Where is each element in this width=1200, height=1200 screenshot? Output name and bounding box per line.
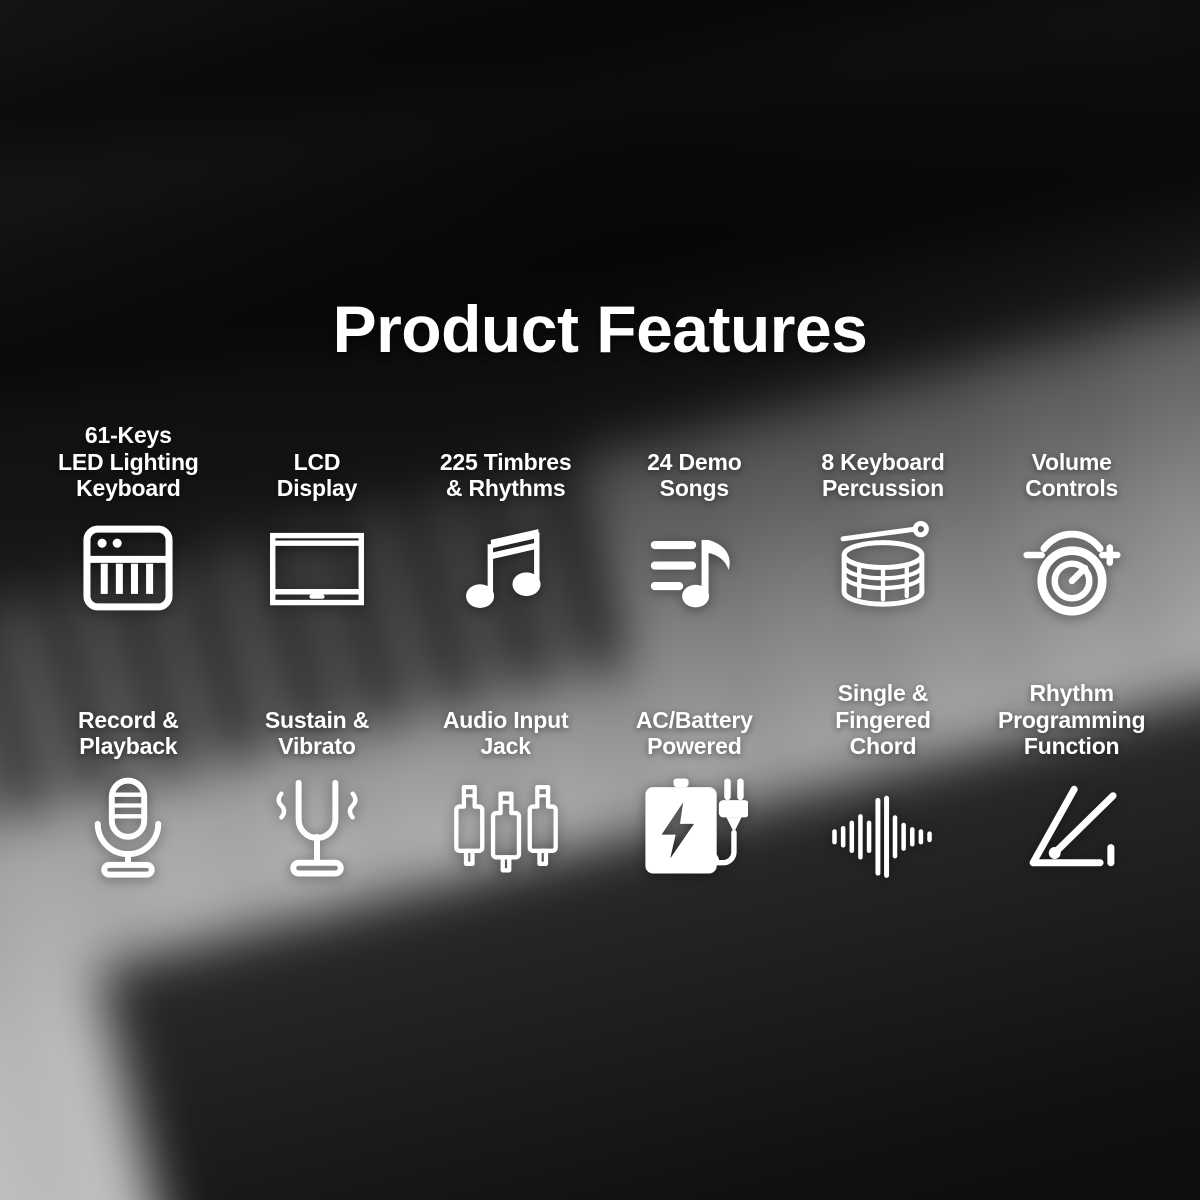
lcd-display-icon <box>263 514 371 622</box>
feature-label: LCD Display <box>277 420 357 502</box>
battery-plug-icon <box>640 772 748 880</box>
tuning-fork-icon <box>263 772 371 880</box>
feature-label: Sustain & Vibrato <box>265 678 369 760</box>
feature-61-keys-led-lighting-keyboard: 61-Keys LED Lighting Keyboard <box>34 420 223 622</box>
feature-24-demo-songs: 24 Demo Songs <box>600 420 789 622</box>
feature-audio-input-jack: Audio Input Jack <box>411 678 600 880</box>
feature-label: 24 Demo Songs <box>647 420 741 502</box>
feature-volume-controls: Volume Controls <box>977 420 1166 622</box>
feature-label: Record & Playback <box>78 678 179 760</box>
feature-8-keyboard-percussion: 8 Keyboard Percussion <box>789 420 978 622</box>
feature-sustain-vibrato: Sustain & Vibrato <box>223 678 412 880</box>
feature-label: 61-Keys LED Lighting Keyboard <box>58 420 199 502</box>
volume-knob-icon <box>1018 514 1126 622</box>
waveform-icon <box>829 772 937 880</box>
playlist-note-icon <box>640 514 748 622</box>
feature-label: 8 Keyboard Percussion <box>821 420 944 502</box>
feature-label: Audio Input Jack <box>443 678 569 760</box>
feature-label: 225 Timbres & Rhythms <box>440 420 572 502</box>
feature-label: Single & Fingered Chord <box>835 678 931 760</box>
feature-rhythm-programming-function: Rhythm Programming Function <box>977 678 1166 880</box>
features-grid: 61-Keys LED Lighting Keyboard LCD <box>34 420 1166 880</box>
product-features-graphic: Product Features 61-Keys LED Lighting Ke… <box>0 0 1200 1200</box>
feature-label: Volume Controls <box>1025 420 1118 502</box>
triangle-beater-icon <box>1018 772 1126 880</box>
feature-label: AC/Battery Powered <box>636 678 753 760</box>
page-title: Product Features <box>0 296 1200 362</box>
audio-jack-icon <box>452 772 560 880</box>
feature-single-fingered-chord: Single & Fingered Chord <box>789 678 978 880</box>
microphone-icon <box>74 772 182 880</box>
snare-drum-icon <box>829 514 937 622</box>
feature-225-timbres-rhythms: 225 Timbres & Rhythms <box>411 420 600 622</box>
feature-lcd-display: LCD Display <box>223 420 412 622</box>
feature-label: Rhythm Programming Function <box>998 678 1145 760</box>
feature-record-playback: Record & Playback <box>34 678 223 880</box>
feature-ac-battery-powered: AC/Battery Powered <box>600 678 789 880</box>
music-note-icon <box>452 514 560 622</box>
keyboard-icon <box>74 514 182 622</box>
